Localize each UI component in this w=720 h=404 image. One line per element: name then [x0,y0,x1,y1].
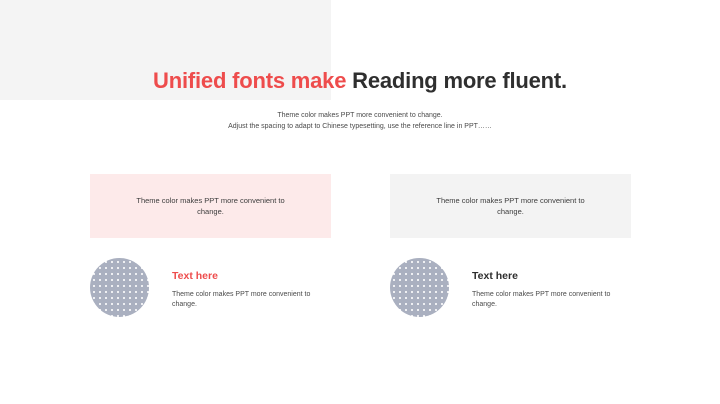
content-card-right-text: Theme color makes PPT more convenient to… [428,195,593,217]
feature-left-heading: Text here [172,270,334,283]
slide-canvas: Unified fonts make Reading more fluent. … [0,0,720,404]
page-title-accent: Unified fonts make [153,68,346,93]
content-card-left: Theme color makes PPT more convenient to… [90,174,331,238]
dotted-circle-icon [90,258,149,317]
feature-block-right: Text here Theme color makes PPT more con… [390,258,635,320]
subtitle-block: Theme color makes PPT more convenient to… [0,110,720,132]
feature-right-heading: Text here [472,270,634,283]
feature-right-body: Theme color makes PPT more convenient to… [472,290,634,310]
subtitle-line-2: Adjust the spacing to adapt to Chinese t… [0,121,720,132]
page-title: Unified fonts make Reading more fluent. [0,68,720,94]
feature-left-text: Text here Theme color makes PPT more con… [172,270,334,310]
feature-right-text: Text here Theme color makes PPT more con… [472,270,634,310]
feature-block-left: Text here Theme color makes PPT more con… [90,258,335,320]
feature-left-body: Theme color makes PPT more convenient to… [172,290,334,310]
dotted-circle-icon [390,258,449,317]
content-card-left-text: Theme color makes PPT more convenient to… [128,195,293,217]
subtitle-line-1: Theme color makes PPT more convenient to… [0,110,720,121]
content-card-right: Theme color makes PPT more convenient to… [390,174,631,238]
page-title-rest: Reading more fluent. [346,68,567,93]
